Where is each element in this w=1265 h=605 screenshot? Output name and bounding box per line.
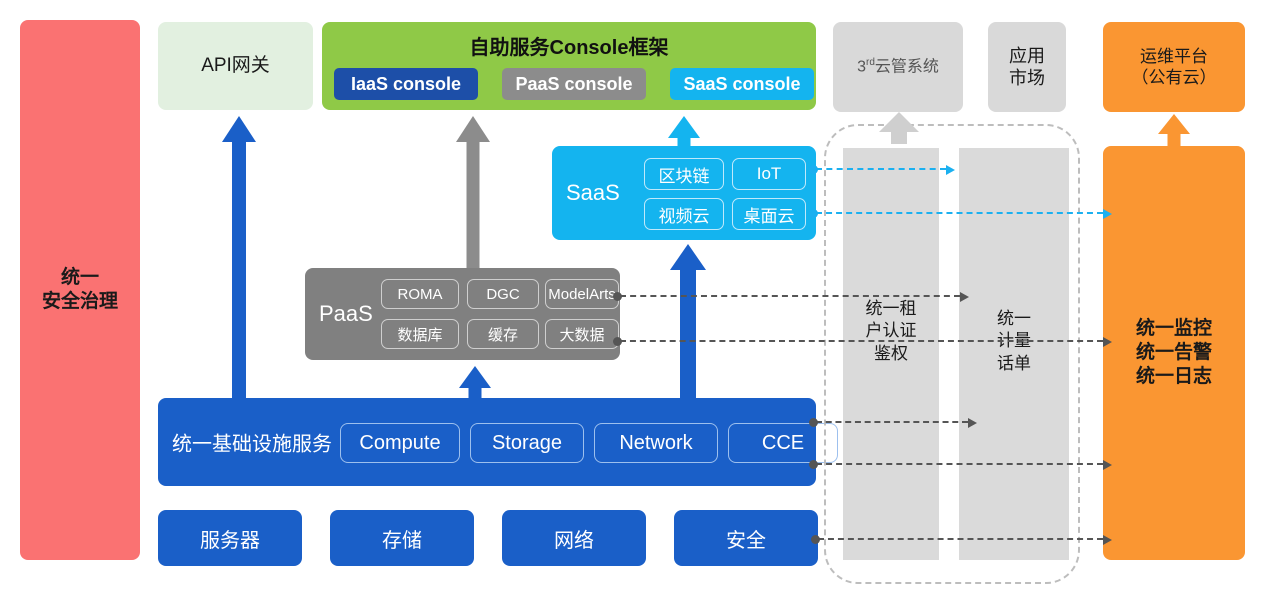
infrastructure-label: 统一基础设施服务 [172,428,332,457]
saas-chip-desktop-cloud[interactable]: 桌面云 [732,198,806,230]
auth-line3: 鉴权 [843,343,939,365]
unified-metering-billing-column: 统一 计量 话单 [959,148,1069,560]
connector-arrowhead [960,292,969,302]
iaas-console-chip[interactable]: IaaS console [334,68,478,100]
saas-console-chip[interactable]: SaaS console [670,68,814,100]
third-cloud-prefix: 3 [857,58,866,75]
paas-console-chip[interactable]: PaaS console [502,68,646,100]
paas-chip-bigdata[interactable]: 大数据 [545,319,619,349]
saas-layer-label: SaaS [566,180,620,206]
ops-monitor-line3: 统一日志 [1136,365,1212,389]
unified-tenant-auth-column: 统一租 户认证 鉴权 [843,148,939,560]
saas-chip-iot[interactable]: IoT [732,158,806,190]
unified-monitoring-panel: 统一监控 统一告警 统一日志 [1103,146,1245,560]
paas-layer-box: PaaS ROMA DGC ModelArts 数据库 缓存 大数据 [305,268,620,360]
app-market-line2: 市场 [1009,67,1045,90]
paas-chip-modelarts[interactable]: ModelArts [545,279,619,309]
unified-infrastructure-services-bar: 统一基础设施服务 Compute Storage Network CCE [158,398,816,486]
paas-layer-label: PaaS [319,301,373,327]
connector-arrowhead [1103,337,1112,347]
app-market-box: 应用 市场 [988,22,1066,112]
arrow-paas-to-console [456,116,490,268]
unified-security-governance-panel: 统一 安全治理 [20,20,140,560]
api-gateway-label: API网关 [201,54,270,78]
third-cloud-sup: rd [866,57,875,68]
connector-dot [811,535,820,544]
infra-chip-storage[interactable]: Storage [470,423,584,463]
infra-chip-network[interactable]: Network [594,423,718,463]
third-cloud-suffix: 云管系统 [875,58,939,75]
security-line1: 统一 [42,266,118,290]
saas-layer-box: SaaS 区块链 IoT 视频云 桌面云 [552,146,816,240]
connector-arrowhead [1103,209,1112,219]
connector-hardware-to-ops-monitor [818,538,1103,540]
connector-arrowhead [946,165,955,175]
connector-arrowhead [1103,460,1112,470]
infra-chip-compute[interactable]: Compute [340,423,460,463]
arrow-infra-to-saas [670,244,706,400]
arrow-infra-to-paas [459,366,491,400]
auth-line1: 统一租 [843,298,939,320]
connector-infra-to-ops-monitor [816,463,1103,465]
connector-dot [809,460,818,469]
arrow-infra-to-api-gateway [222,116,256,398]
ops-monitor-line2: 统一告警 [1136,341,1212,365]
app-market-line1: 应用 [1009,45,1045,68]
connector-paas-to-billing [620,295,960,297]
ops-platform-line1: 运维平台 [1132,46,1217,67]
arrow-shared-to-third-cloud [879,112,919,144]
saas-chip-blockchain[interactable]: 区块链 [644,158,724,190]
third-party-cloud-management-box: 3rd云管系统 [833,22,963,112]
auth-column-labels: 统一租 户认证 鉴权 [843,298,939,365]
ops-platform-line2: （公有云） [1132,67,1217,88]
connector-saas-to-auth [816,168,946,170]
hardware-box-server[interactable]: 服务器 [158,510,302,566]
paas-chip-database[interactable]: 数据库 [381,319,459,349]
console-framework-title: 自助服务Console框架 [322,31,816,60]
paas-chip-cache[interactable]: 缓存 [467,319,539,349]
security-line2: 安全治理 [42,290,118,314]
connector-dot [809,165,818,174]
api-gateway-box: API网关 [158,22,313,110]
hardware-box-network[interactable]: 网络 [502,510,646,566]
connector-saas-to-ops-monitor [816,212,1103,214]
saas-chip-video-cloud[interactable]: 视频云 [644,198,724,230]
billing-line3: 话单 [959,353,1069,375]
connector-arrowhead [968,418,977,428]
arrow-saas-to-console [668,116,700,148]
billing-line1: 统一 [959,308,1069,330]
hardware-box-security[interactable]: 安全 [674,510,818,566]
arrow-monitor-to-ops-platform [1157,114,1191,146]
ops-platform-public-cloud-box: 运维平台 （公有云） [1103,22,1245,112]
connector-dot [613,292,622,301]
paas-chip-dgc[interactable]: DGC [467,279,539,309]
ops-monitor-line1: 统一监控 [1136,317,1212,341]
connector-infra-to-billing [816,421,968,423]
connector-paas-to-ops-monitor [620,340,1103,342]
self-service-console-framework: 自助服务Console框架 IaaS console PaaS console … [322,22,816,110]
infra-chip-cce[interactable]: CCE [728,423,838,463]
connector-dot [613,337,622,346]
paas-chip-roma[interactable]: ROMA [381,279,459,309]
hardware-box-storage[interactable]: 存储 [330,510,474,566]
connector-dot [809,209,818,218]
connector-dot [809,418,818,427]
connector-arrowhead [1103,535,1112,545]
